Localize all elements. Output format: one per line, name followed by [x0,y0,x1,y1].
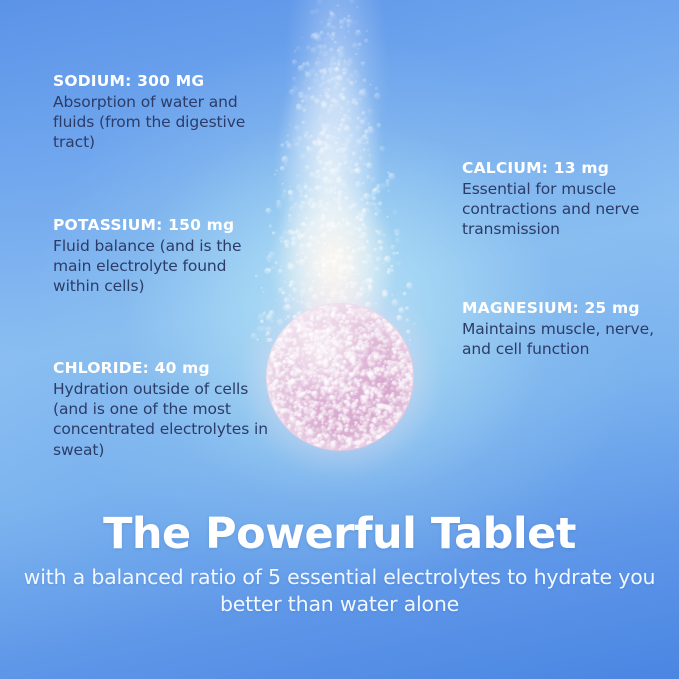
nutrient-sodium-label: SODIUM: 300 MG [53,71,263,91]
nutrient-sodium: SODIUM: 300 MG Absorption of water and f… [53,71,263,153]
page-subtitle: with a balanced ratio of 5 essential ele… [0,564,679,618]
nutrient-sodium-description: Absorption of water and fluids (from the… [53,92,263,152]
effervescent-tablet [266,303,414,451]
page-title: The Powerful Tablet [0,512,679,557]
tablet-bubble-texture-icon [266,303,414,451]
nutrient-chloride-label: CHLORIDE: 40 mg [53,358,278,378]
nutrient-potassium: POTASSIUM: 150 mg Fluid balance (and is … [53,215,263,297]
nutrient-calcium-description: Essential for muscle contractions and ne… [462,179,672,239]
nutrient-potassium-label: POTASSIUM: 150 mg [53,215,263,235]
nutrient-calcium: CALCIUM: 13 mg Essential for muscle cont… [462,158,672,240]
nutrient-calcium-label: CALCIUM: 13 mg [462,158,672,178]
nutrient-magnesium-description: Maintains muscle, nerve, and cell functi… [462,319,674,359]
product-infographic: SODIUM: 300 MG Absorption of water and f… [0,0,679,679]
nutrient-magnesium: MAGNESIUM: 25 mg Maintains muscle, nerve… [462,298,674,359]
nutrient-potassium-description: Fluid balance (and is the main electroly… [53,236,263,296]
nutrient-chloride-description: Hydration outside of cells (and is one o… [53,379,278,460]
nutrient-chloride: CHLORIDE: 40 mg Hydration outside of cel… [53,358,278,460]
nutrient-magnesium-label: MAGNESIUM: 25 mg [462,298,674,318]
footer-headline-block: The Powerful Tablet with a balanced rati… [0,512,679,618]
